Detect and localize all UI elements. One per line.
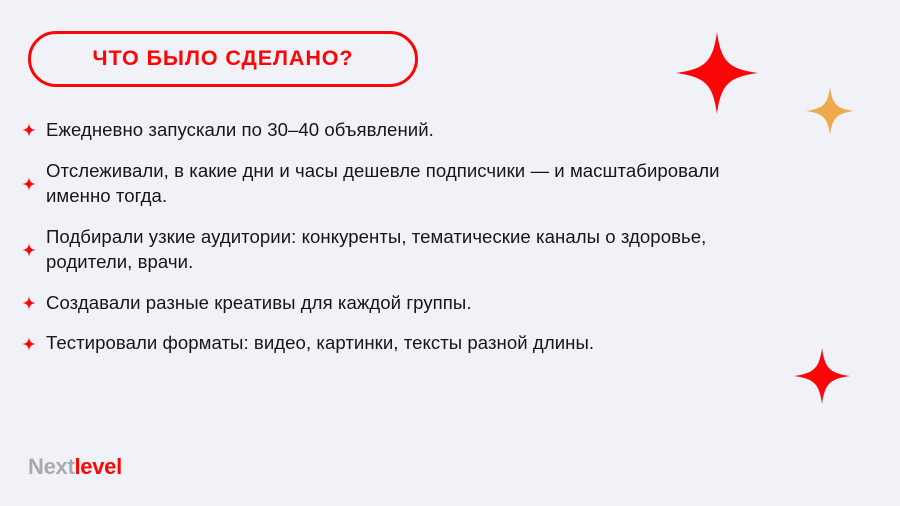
list-item: Тестировали форматы: видео, картинки, те… bbox=[22, 331, 752, 356]
list-item-label: Отслеживали, в какие дни и часы дешевле … bbox=[46, 159, 752, 209]
bullet-list: Ежедневно запускали по 30–40 объявлений.… bbox=[22, 118, 752, 356]
brand-logo-next: Next bbox=[28, 454, 75, 479]
list-item: Подбирали узкие аудитории: конкуренты, т… bbox=[22, 225, 752, 275]
list-item: Ежедневно запускали по 30–40 объявлений. bbox=[22, 118, 752, 143]
slide-title-pill: ЧТО БЫЛО СДЕЛАНО? bbox=[28, 31, 418, 87]
page-title: ЧТО БЫЛО СДЕЛАНО? bbox=[93, 48, 354, 70]
list-item-label: Ежедневно запускали по 30–40 объявлений. bbox=[46, 118, 434, 143]
sparkle-icon bbox=[22, 123, 36, 137]
list-item-label: Создавали разные креативы для каждой гру… bbox=[46, 291, 472, 316]
sparkle-icon bbox=[22, 337, 36, 351]
sparkle-icon bbox=[22, 296, 36, 310]
brand-logo: Nextlevel bbox=[28, 456, 122, 478]
list-item-label: Подбирали узкие аудитории: конкуренты, т… bbox=[46, 225, 752, 275]
sparkle-icon bbox=[22, 177, 36, 191]
four-point-star-icon bbox=[806, 87, 854, 135]
four-point-star-icon bbox=[794, 348, 850, 404]
list-item: Отслеживали, в какие дни и часы дешевле … bbox=[22, 159, 752, 209]
sparkle-icon bbox=[22, 243, 36, 257]
brand-logo-level: level bbox=[75, 454, 122, 479]
list-item: Создавали разные креативы для каждой гру… bbox=[22, 291, 752, 316]
four-point-star-icon bbox=[676, 32, 758, 114]
list-item-label: Тестировали форматы: видео, картинки, те… bbox=[46, 331, 594, 356]
slide-canvas: ЧТО БЫЛО СДЕЛАНО? Ежедневно запускали по… bbox=[0, 0, 900, 506]
